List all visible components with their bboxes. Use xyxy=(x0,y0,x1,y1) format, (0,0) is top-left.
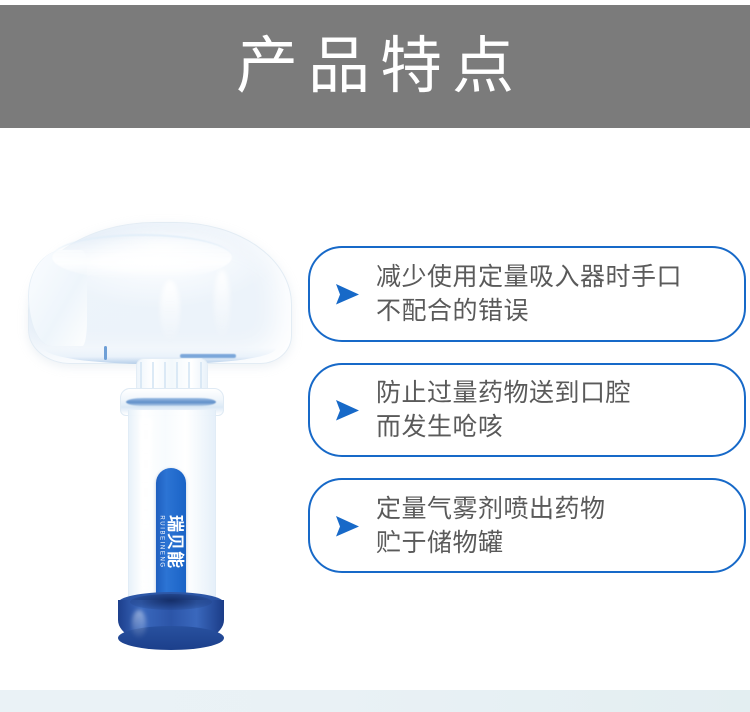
feature-item-2[interactable]: 防止过量药物送到口腔 而发生呛咳 xyxy=(308,363,746,457)
feature-item-2-text: 防止过量药物送到口腔 而发生呛咳 xyxy=(376,376,631,444)
base-highlight xyxy=(132,610,146,638)
header-banner: 产品特点 xyxy=(0,5,750,128)
base-inner-shadow xyxy=(130,594,212,610)
mask-gloss-highlight-c xyxy=(214,270,230,340)
triangle-right-icon xyxy=(332,397,362,423)
mask-blue-marker-a xyxy=(104,346,107,360)
feature-item-3-line-1: 定量气雾剂喷出药物 xyxy=(376,492,606,526)
mask-gloss-highlight-a xyxy=(90,250,212,274)
triangle-right-icon xyxy=(332,281,362,307)
feature-item-1[interactable]: 减少使用定量吸入器时手口 不配合的错误 xyxy=(308,246,746,342)
product-feature-page: 产品特点 瑞贝能 Ruibeineng xyxy=(0,0,750,712)
mask-gloss-highlight-b xyxy=(160,280,180,342)
chamber-sheen-highlight xyxy=(140,418,152,590)
footer-band xyxy=(0,690,750,712)
chamber-blue-seal-band xyxy=(126,398,216,406)
feature-item-1-line-1: 减少使用定量吸入器时手口 xyxy=(376,260,682,294)
product-image: 瑞贝能 Ruibeineng xyxy=(0,130,310,675)
brand-label-text-group: 瑞贝能 Ruibeineng xyxy=(159,515,184,569)
collar-ribbing xyxy=(140,362,202,388)
feature-item-3[interactable]: 定量气雾剂喷出药物 贮于储物罐 xyxy=(308,478,746,573)
feature-list: 减少使用定量吸入器时手口 不配合的错误 防止过量药物送到口腔 而发生呛咳 定量气… xyxy=(308,246,746,573)
feature-item-2-line-1: 防止过量药物送到口腔 xyxy=(376,376,631,410)
feature-item-3-text: 定量气雾剂喷出药物 贮于储物罐 xyxy=(376,492,606,560)
brand-name-en: Ruibeineng xyxy=(159,515,165,568)
feature-item-1-text: 减少使用定量吸入器时手口 不配合的错误 xyxy=(376,260,682,328)
feature-item-2-line-2: 而发生呛咳 xyxy=(376,410,631,444)
feature-item-1-line-2: 不配合的错误 xyxy=(376,294,682,328)
feature-item-3-line-2: 贮于储物罐 xyxy=(376,526,606,560)
page-title: 产品特点 xyxy=(226,36,524,98)
brand-name-cn: 瑞贝能 xyxy=(166,515,184,569)
triangle-right-icon xyxy=(332,513,362,539)
